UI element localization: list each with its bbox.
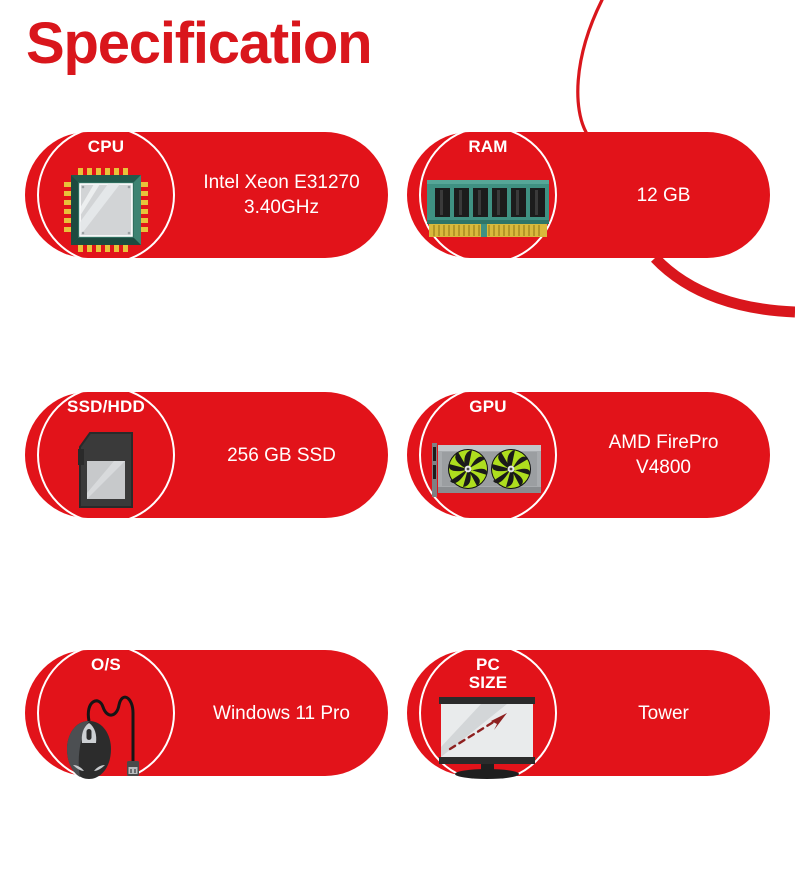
card-label: SSD/HDD bbox=[37, 398, 175, 416]
card-label: GPU bbox=[419, 398, 557, 416]
card-label: RAM bbox=[419, 138, 557, 156]
card-label: PC SIZE bbox=[419, 656, 557, 692]
monitor-size-icon bbox=[419, 684, 557, 792]
card-value: 256 GB SSD bbox=[175, 392, 388, 518]
card-value: Tower bbox=[557, 650, 770, 776]
memory-card-icon bbox=[37, 416, 175, 524]
card-label: CPU bbox=[37, 138, 175, 156]
card-value: AMD FirePro V4800 bbox=[557, 392, 770, 518]
ram-stick-icon bbox=[419, 156, 557, 264]
cpu-chip-icon bbox=[37, 156, 175, 264]
spec-card-storage[interactable]: SSD/HDD 256 GB SSD bbox=[25, 392, 388, 518]
computer-mouse-icon bbox=[37, 674, 175, 782]
spec-card-grid: CPU Intel Xeon E31270 3.40GHz bbox=[0, 0, 795, 878]
spec-card-gpu[interactable]: GPU AMD FirePro V4800 bbox=[407, 392, 770, 518]
card-label: O/S bbox=[37, 656, 175, 674]
graphics-card-icon bbox=[419, 416, 557, 524]
page-title: Specification bbox=[26, 14, 371, 75]
spec-card-os[interactable]: O/S Windows 11 Pro bbox=[25, 650, 388, 776]
spec-card-pc-size[interactable]: PC SIZE Tower bbox=[407, 650, 770, 776]
spec-card-ram[interactable]: RAM 12 GB bbox=[407, 132, 770, 258]
spec-card-cpu[interactable]: CPU Intel Xeon E31270 3.40GHz bbox=[25, 132, 388, 258]
card-value: Intel Xeon E31270 3.40GHz bbox=[175, 132, 388, 258]
card-value: 12 GB bbox=[557, 132, 770, 258]
card-value: Windows 11 Pro bbox=[175, 650, 388, 776]
